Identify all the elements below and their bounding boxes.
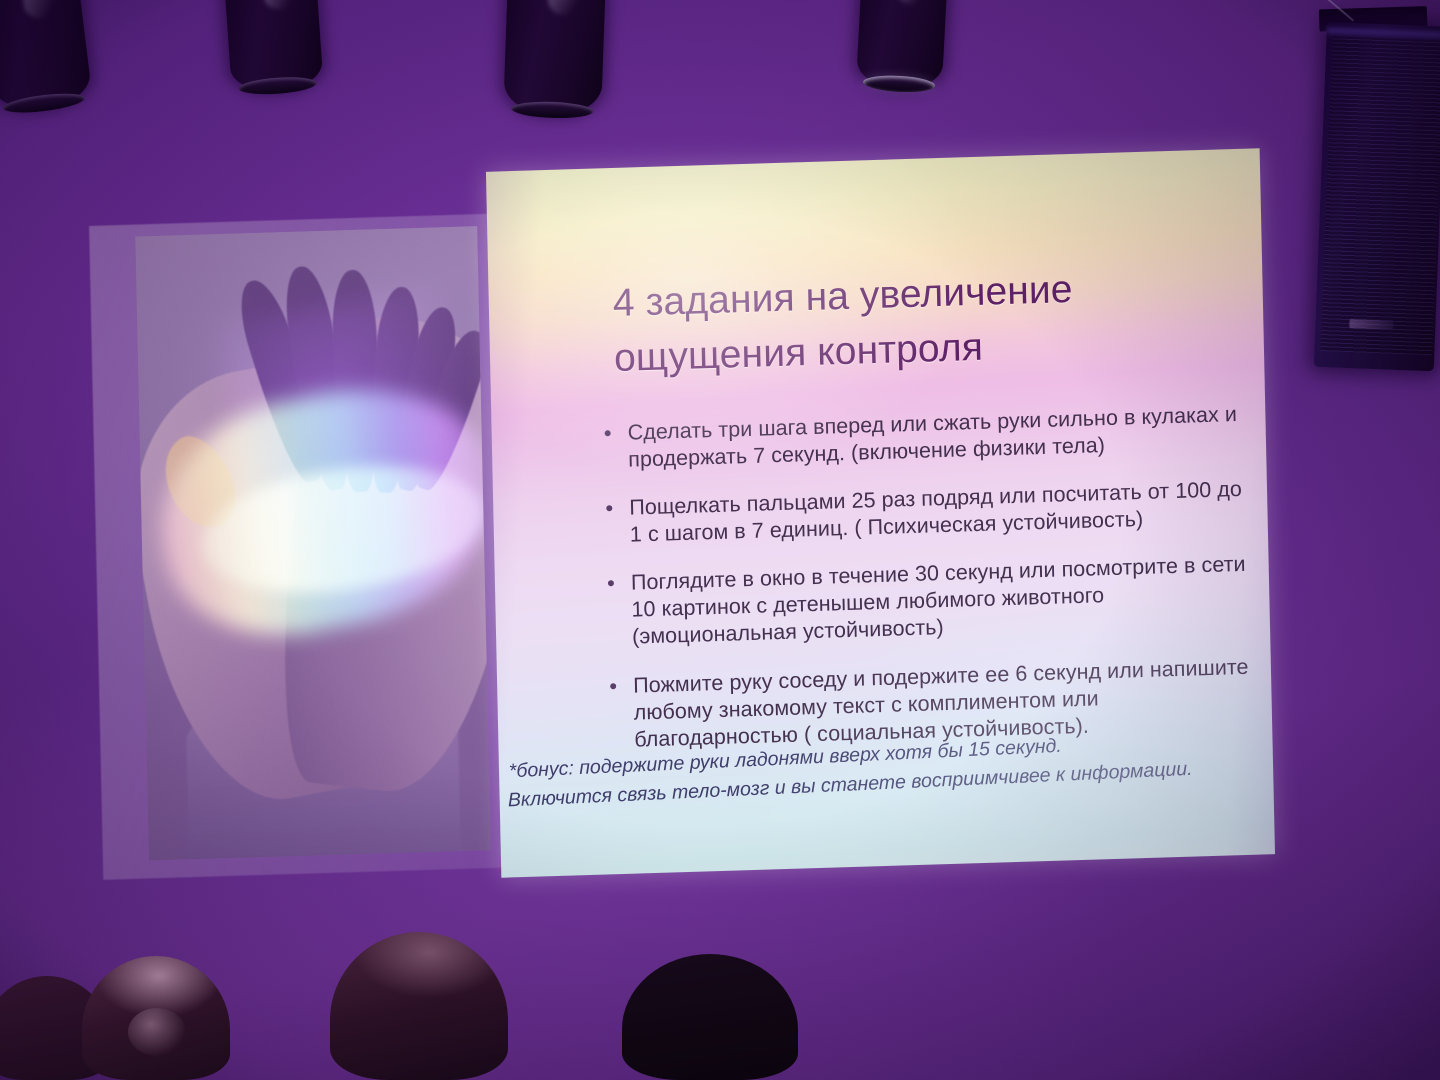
speaker-cabinet	[1314, 22, 1440, 371]
slide-bullet-item: Пощелкать пальцами 25 раз подряд или пос…	[599, 476, 1260, 550]
photo-grain	[135, 226, 490, 860]
stage-speaker	[1314, 22, 1440, 371]
speaker-brand-logo	[1349, 319, 1393, 330]
audience-head	[82, 956, 230, 1080]
audience-head	[622, 954, 798, 1080]
slide-sheet: 4 задания на увеличение ощущения контрол…	[486, 148, 1275, 877]
audience-head	[330, 932, 508, 1080]
light-body	[503, 0, 606, 116]
slide-bullet-item: Поглядите в окно в течение 30 секунд или…	[601, 551, 1262, 652]
slide-bullet-item: Сделать три шага вперед или сжать руки с…	[597, 400, 1258, 474]
slide-title: 4 задания на увеличение ощущения контрол…	[612, 258, 1214, 387]
projected-slide: 4 задания на увеличение ощущения контрол…	[88, 142, 1275, 894]
speaker-grille	[1320, 36, 1440, 355]
stage-spotlight	[224, 0, 324, 93]
audience-hair-bun	[128, 1008, 186, 1056]
hands-photo	[135, 226, 490, 860]
stage-spotlight	[0, 0, 93, 113]
slide-bullet-list: Сделать три шага вперед или сжать руки с…	[597, 400, 1264, 775]
stage-spotlight	[503, 0, 606, 116]
stage-spotlight	[856, 0, 948, 90]
